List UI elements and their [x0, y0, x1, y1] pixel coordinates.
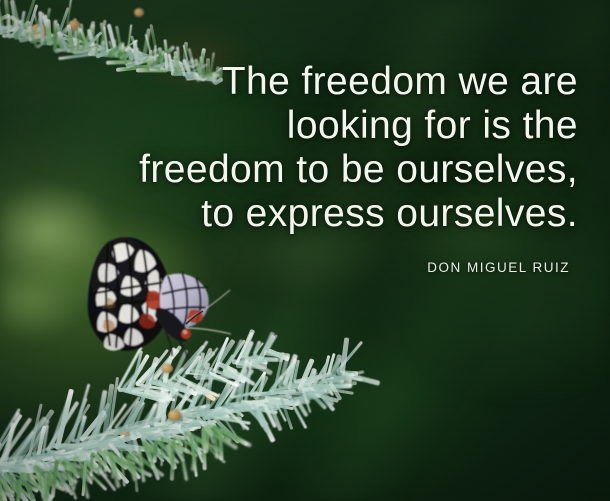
quote-image: The freedom we are looking for is the fr… — [0, 0, 610, 501]
quote-text: The freedom we are looking for is the fr… — [0, 60, 578, 236]
quote-line-2: looking for is the — [0, 104, 578, 148]
quote-attribution: DON MIGUEL RUIZ — [0, 260, 570, 275]
quote-line-3: freedom to be ourselves, — [0, 148, 578, 192]
quote-line-4: to express ourselves. — [0, 192, 578, 236]
quote-line-1: The freedom we are — [0, 60, 578, 104]
